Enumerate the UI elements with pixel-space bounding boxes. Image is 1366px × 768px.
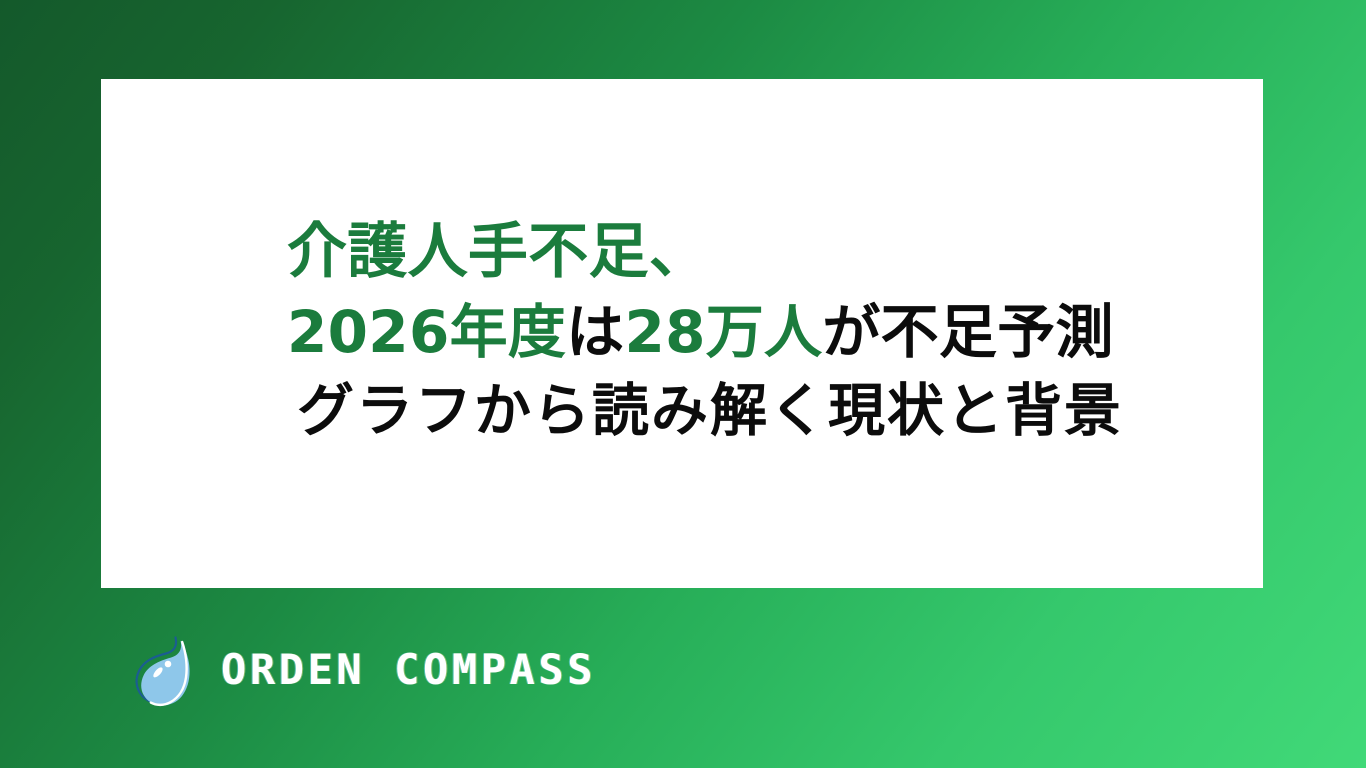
title-card-canvas: 介護人手不足、 2026年度は28万人が不足予測 グラフから読み解く現状と背景 … (0, 0, 1366, 768)
headline-line-2: 2026年度は28万人が不足予測 (287, 295, 1114, 370)
headline-line-2-segment-tail: が不足予測 (822, 298, 1113, 366)
water-drop-leaf-icon (131, 634, 199, 708)
brand-logo-lockup: ORDEN COMPASS (131, 632, 596, 710)
brand-wordmark: ORDEN COMPASS (221, 649, 596, 693)
content-card: 介護人手不足、 2026年度は28万人が不足予測 グラフから読み解く現状と背景 (101, 79, 1263, 588)
headline-block: 介護人手不足、 2026年度は28万人が不足予測 グラフから読み解く現状と背景 (101, 79, 1263, 588)
headline-line-1-segment-1: 介護人手不足、 (287, 217, 709, 287)
headline-line-3: グラフから読み解く現状と背景 (297, 374, 1123, 448)
headline-line-1: 介護人手不足、 (287, 213, 709, 291)
headline-line-2-segment-year: 2026年度 (287, 298, 566, 366)
headline-line-2-segment-figure: 28万人 (624, 298, 822, 366)
headline-line-3-segment-1: グラフから読み解く現状と背景 (297, 378, 1123, 444)
headline-line-2-segment-particle: は (566, 298, 624, 366)
